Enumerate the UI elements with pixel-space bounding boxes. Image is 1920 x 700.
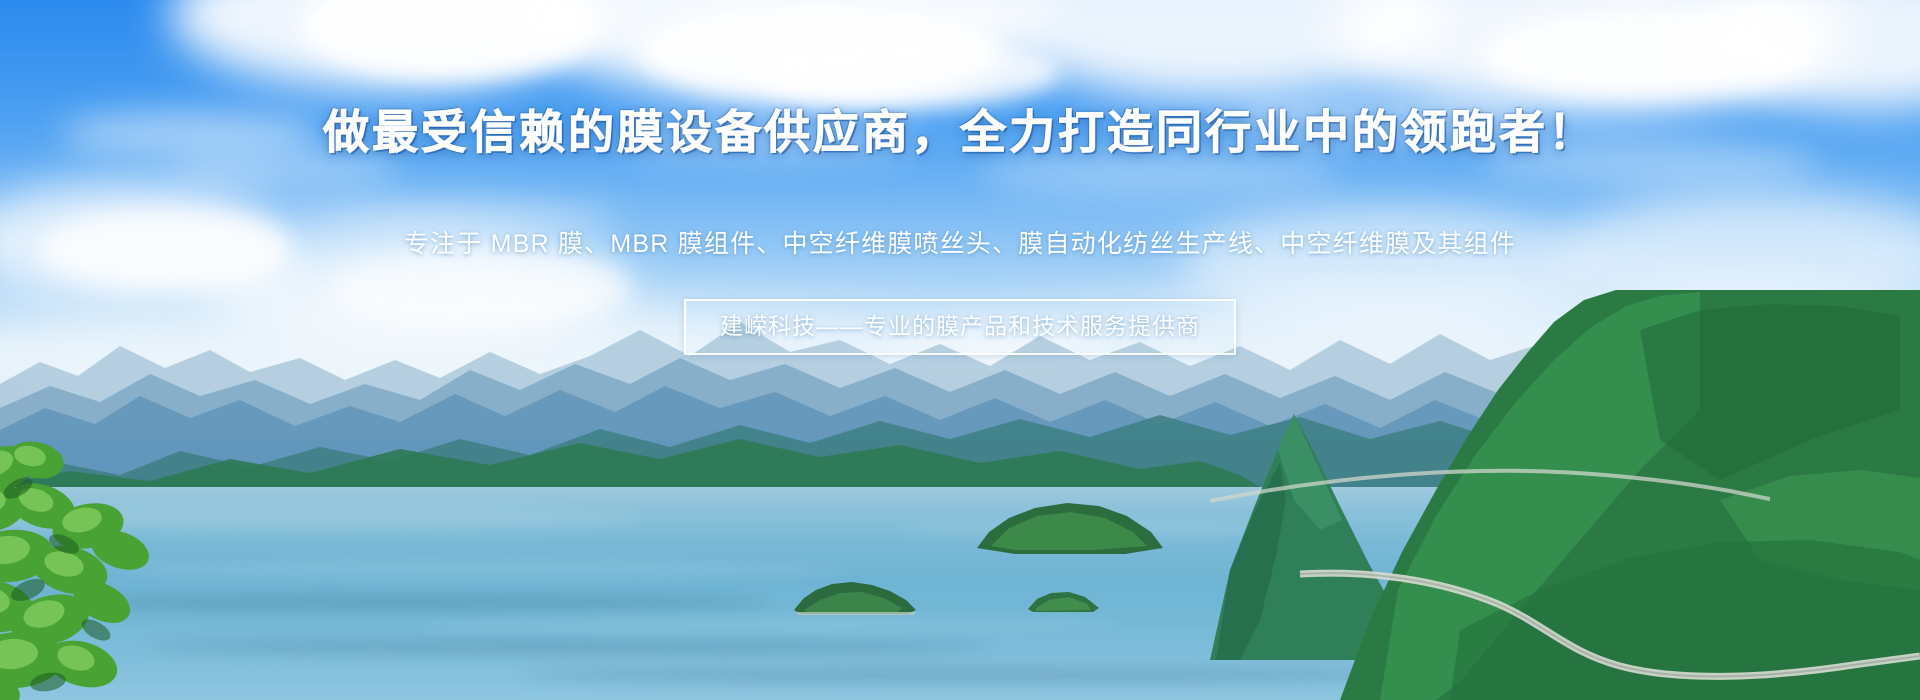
banner-text-overlay: 做最受信赖的膜设备供应商，全力打造同行业中的领跑者！ 专注于 MBR 膜、MBR… — [0, 0, 1920, 700]
banner-headline: 做最受信赖的膜设备供应商，全力打造同行业中的领跑者！ — [0, 104, 1920, 160]
banner-tagline-box: 建嵘科技——专业的膜产品和技术服务提供商 — [684, 299, 1236, 355]
hero-banner: 做最受信赖的膜设备供应商，全力打造同行业中的领跑者！ 专注于 MBR 膜、MBR… — [0, 0, 1920, 700]
banner-subheadline: 专注于 MBR 膜、MBR 膜组件、中空纤维膜喷丝头、膜自动化纺丝生产线、中空纤… — [0, 226, 1920, 262]
